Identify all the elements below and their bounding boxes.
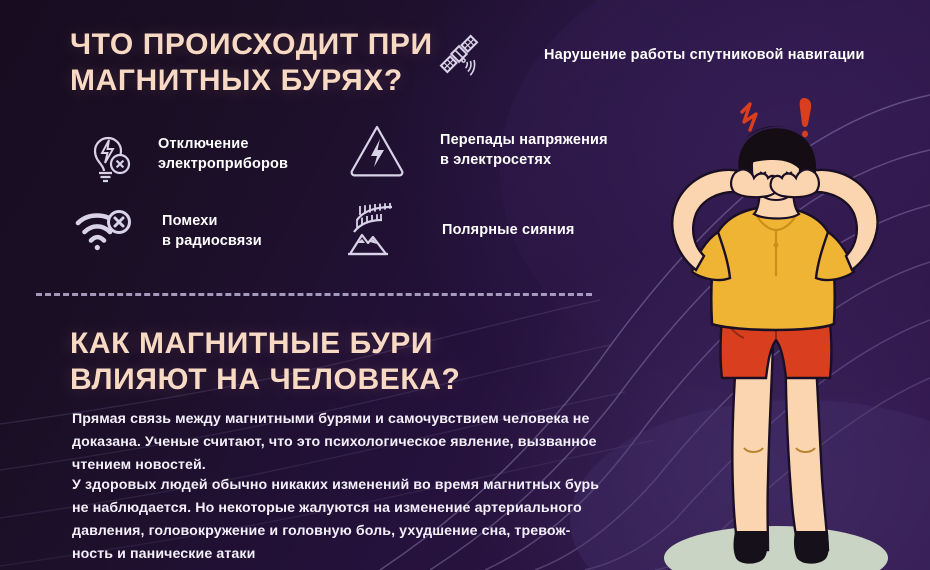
aurora-mountains-icon (348, 202, 406, 258)
page-title-human-effect: КАК МАГНИТНЫЕ БУРИ ВЛИЯЮТ НА ЧЕЛОВЕКА? (70, 326, 470, 398)
paragraph-line: У здоровых людей обычно никаких изменени… (72, 474, 612, 497)
body-paragraph-2: У здоровых людей обычно никаких изменени… (72, 474, 612, 566)
feature-label-line: в радиосвязи (162, 231, 262, 251)
feature-satellite-navigation: Нарушение работы спутниковой навигации (434, 30, 865, 80)
feature-label: Нарушение работы спутниковой навигации (544, 45, 865, 65)
floor-shadow (664, 526, 888, 570)
exclamation-mark-icon (800, 98, 812, 127)
paragraph-line: доказана. Ученые считают, что это психол… (72, 431, 612, 454)
feature-label: Полярные сияния (442, 220, 575, 240)
shirt-button (774, 243, 779, 248)
feature-polar-aurora: Полярные сияния (348, 202, 575, 258)
feature-radio-interference: Помехи в радиосвязи (74, 205, 262, 257)
feature-label-line: Помехи (162, 211, 262, 231)
feature-voltage-fluctuation: Перепады напряжения в электросетях (348, 122, 608, 178)
feature-label: Перепады напряжения в электросетях (440, 130, 608, 170)
wifi-off-icon (74, 205, 136, 257)
feature-label-line: электроприборов (158, 154, 288, 174)
high-voltage-warning-icon (348, 122, 406, 178)
body-paragraph-1: Прямая связь между магнитными бурями и с… (72, 408, 612, 477)
feature-label-line: Полярные сияния (442, 220, 575, 240)
feature-label: Отключение электроприборов (158, 134, 288, 174)
paragraph-line: Прямая связь между магнитными бурями и с… (72, 408, 612, 431)
stressed-person-illustration (600, 80, 930, 570)
lightning-bolt-icon (742, 104, 756, 130)
left-sock (735, 532, 767, 563)
page-title-what-happens: ЧТО ПРОИСХОДИТ ПРИ МАГНИТНЫХ БУРЯХ? (70, 27, 470, 99)
tshirt (711, 207, 835, 330)
satellite-icon (434, 30, 484, 80)
feature-label-line: Перепады напряжения (440, 130, 608, 150)
paragraph-line: давления, головокружение и головную боль… (72, 520, 612, 543)
feature-label-line: Отключение (158, 134, 288, 154)
headline-line: ЧТО ПРОИСХОДИТ ПРИ (70, 27, 470, 63)
lightbulb-off-icon (78, 122, 136, 186)
infographic-canvas: ЧТО ПРОИСХОДИТ ПРИ МАГНИТНЫХ БУРЯХ? (0, 0, 930, 570)
headline-line: МАГНИТНЫХ БУРЯХ? (70, 63, 470, 99)
headline-line: ВЛИЯЮТ НА ЧЕЛОВЕКА? (70, 362, 470, 398)
feature-label-line: Нарушение работы спутниковой навигации (544, 45, 865, 65)
paragraph-line: ность и панические атаки (72, 543, 612, 566)
section-divider (36, 293, 592, 296)
exclamation-dot (802, 131, 808, 138)
headline-line: КАК МАГНИТНЫЕ БУРИ (70, 326, 470, 362)
right-sock (795, 532, 828, 563)
paragraph-line: не наблюдается. Но некоторые жалуются на… (72, 497, 612, 520)
feature-label: Помехи в радиосвязи (162, 211, 262, 251)
feature-appliance-shutdown: Отключение электроприборов (78, 122, 288, 186)
feature-label-line: в электросетях (440, 150, 608, 170)
